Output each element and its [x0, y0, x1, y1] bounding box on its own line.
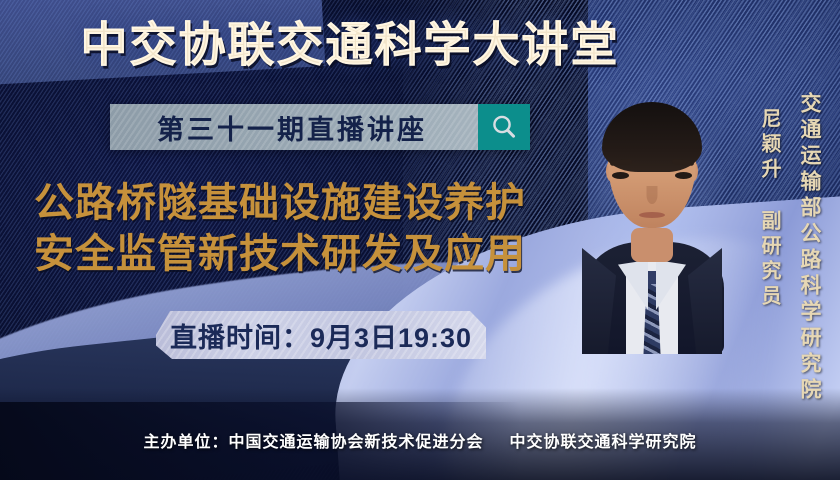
search-icon[interactable]: [478, 104, 530, 150]
headline-line-2: 安全监管新技术研发及应用: [34, 229, 590, 280]
lecture-headline: 公路桥隧基础设施建设养护 安全监管新技术研发及应用: [34, 178, 590, 280]
live-stream-poster: 中交协联交通科学大讲堂 第三十一期直播讲座 公路桥隧基础设施建设养护 安全监管新…: [0, 0, 840, 480]
footer-organizers: 主办单位：中国交通运输协会新技术促进分会中交协联交通科学研究院: [0, 428, 840, 452]
footer-host-label: 主办单位：中国交通运输协会新技术促进分会: [143, 434, 483, 451]
page-title: 中交协联交通科学大讲堂: [0, 16, 840, 74]
portrait-nose: [647, 186, 658, 204]
schedule-badge: 直播时间：9月3日19:30: [156, 311, 486, 359]
speaker-organization: 交通运输部公路科学研究院: [794, 92, 824, 404]
schedule-label: 直播时间：9月3日19:30: [170, 316, 472, 355]
portrait-neck: [631, 228, 673, 262]
portrait-eye-left: [612, 172, 629, 179]
speaker-portrait: [578, 86, 726, 354]
speaker-name: 尼颖升 副研究员: [755, 108, 784, 310]
headline-line-1: 公路桥隧基础设施建设养护: [34, 178, 590, 229]
portrait-eye-right: [675, 172, 692, 179]
footer-second-org: 中交协联交通科学研究院: [510, 434, 697, 451]
session-banner: 第三十一期直播讲座: [110, 104, 530, 150]
portrait-mouth: [639, 212, 665, 218]
session-banner-label: 第三十一期直播讲座: [110, 104, 478, 150]
